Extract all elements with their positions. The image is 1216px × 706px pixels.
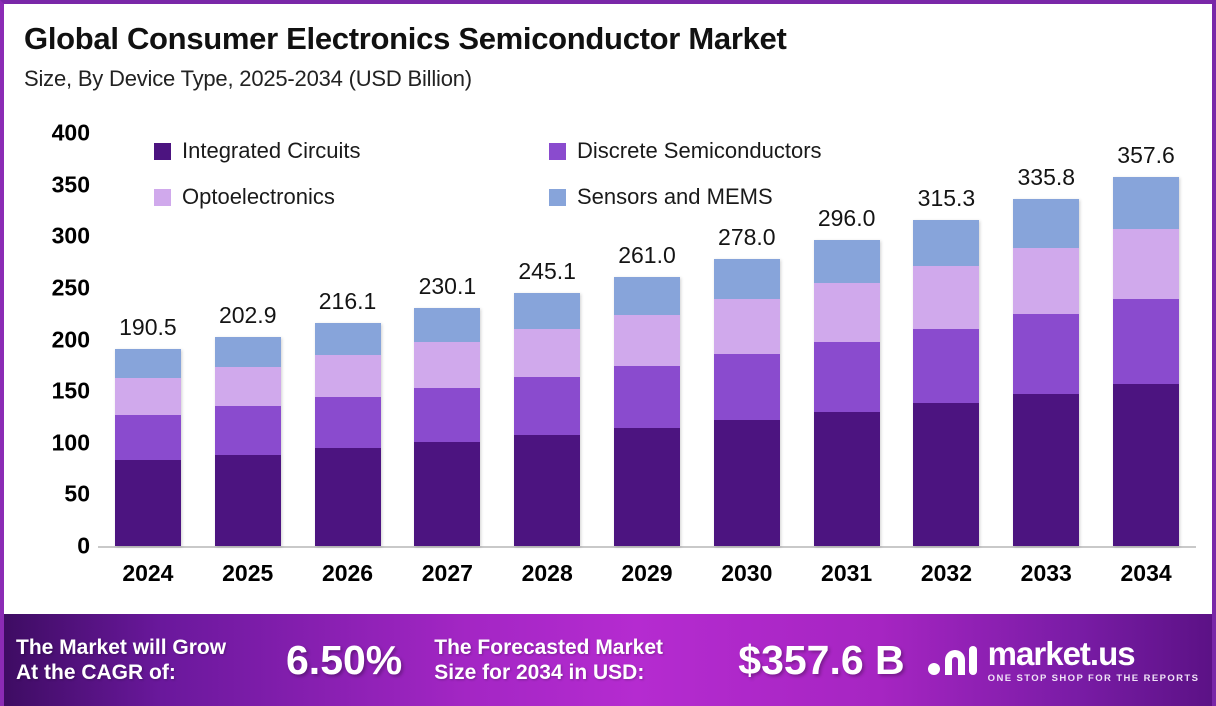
bar-total-label: 278.0	[718, 224, 776, 251]
x-axis-tick-label: 2025	[198, 560, 298, 587]
bar-segment[interactable]	[315, 448, 381, 546]
market-us-logo-text: market.us ONE STOP SHOP FOR THE REPORTS	[988, 637, 1200, 684]
x-axis-labels: 2024202520262027202820292030203120322033…	[98, 560, 1196, 600]
stacked-bar[interactable]	[514, 293, 580, 546]
forecast-size-label-line1: The Forecasted Market	[434, 635, 730, 660]
bar-segment[interactable]	[115, 460, 181, 546]
bar-total-label: 216.1	[319, 288, 377, 315]
stacked-bar[interactable]	[1013, 199, 1079, 546]
bar-segment[interactable]	[315, 323, 381, 355]
bar-segment[interactable]	[514, 329, 580, 377]
y-axis-tick: 400	[52, 120, 90, 147]
market-us-logo[interactable]: market.us ONE STOP SHOP FOR THE REPORTS	[927, 637, 1200, 684]
stacked-bar[interactable]	[814, 240, 880, 546]
plot-area: 400350300250200150100500 190.5202.9216.1…	[4, 4, 1216, 604]
bar-segment[interactable]	[714, 299, 780, 354]
x-axis-tick-label: 2027	[397, 560, 497, 587]
bar-segment[interactable]	[1113, 177, 1179, 229]
stacked-bar[interactable]	[1113, 177, 1179, 546]
bar-segment[interactable]	[514, 293, 580, 329]
bar-total-label: 357.6	[1117, 142, 1175, 169]
forecast-size-label: The Forecasted Market Size for 2034 in U…	[434, 635, 730, 685]
bar-total-label: 261.0	[618, 242, 676, 269]
bar-segment[interactable]	[614, 315, 680, 367]
bar-segment[interactable]	[215, 406, 281, 454]
bar-segment[interactable]	[414, 442, 480, 546]
bar-group[interactable]: 261.0	[597, 134, 697, 546]
x-axis-tick-label: 2034	[1096, 560, 1196, 587]
stacked-bar[interactable]	[115, 349, 181, 546]
bar-group[interactable]: 357.6	[1096, 134, 1196, 546]
bar-segment[interactable]	[215, 367, 281, 407]
bar-total-label: 190.5	[119, 314, 177, 341]
bar-segment[interactable]	[215, 337, 281, 367]
y-axis: 400350300250200150100500	[16, 119, 90, 549]
bar-group[interactable]: 230.1	[397, 134, 497, 546]
bar-segment[interactable]	[514, 435, 580, 546]
bar-segment[interactable]	[514, 377, 580, 435]
bar-segment[interactable]	[913, 329, 979, 404]
bar-segment[interactable]	[814, 240, 880, 283]
bar-total-label: 202.9	[219, 302, 277, 329]
cagr-label: The Market will Grow At the CAGR of:	[16, 635, 284, 685]
bar-segment[interactable]	[1113, 384, 1179, 546]
bar-segment[interactable]	[614, 366, 680, 428]
stacked-bar[interactable]	[414, 308, 480, 546]
bar-segment[interactable]	[814, 283, 880, 341]
y-axis-tick: 150	[52, 378, 90, 405]
bar-segment[interactable]	[913, 266, 979, 328]
bar-segment[interactable]	[115, 415, 181, 460]
cagr-label-line2: At the CAGR of:	[16, 660, 284, 685]
market-us-logo-icon	[927, 638, 979, 683]
bar-segment[interactable]	[315, 355, 381, 398]
bar-segment[interactable]	[714, 354, 780, 420]
y-axis-tick: 50	[64, 481, 90, 508]
x-axis-tick-label: 2029	[597, 560, 697, 587]
bar-series-container: 190.5202.9216.1230.1245.1261.0278.0296.0…	[98, 134, 1196, 546]
y-axis-tick: 300	[52, 223, 90, 250]
y-axis-tick: 200	[52, 326, 90, 353]
cagr-label-line1: The Market will Grow	[16, 635, 284, 660]
bar-segment[interactable]	[913, 403, 979, 546]
bar-segment[interactable]	[714, 420, 780, 546]
bar-group[interactable]: 190.5	[98, 134, 198, 546]
x-axis-tick-label: 2026	[298, 560, 398, 587]
bar-group[interactable]: 335.8	[996, 134, 1096, 546]
y-axis-tick: 0	[77, 533, 90, 560]
stacked-bar[interactable]	[913, 220, 979, 546]
bar-segment[interactable]	[215, 455, 281, 546]
bar-total-label: 230.1	[419, 273, 477, 300]
bar-segment[interactable]	[814, 412, 880, 546]
bar-segment[interactable]	[115, 378, 181, 415]
bar-group[interactable]: 216.1	[298, 134, 398, 546]
bar-group[interactable]: 202.9	[198, 134, 298, 546]
forecast-size-value: $357.6 B	[738, 637, 904, 684]
bar-segment[interactable]	[1013, 199, 1079, 248]
bar-segment[interactable]	[115, 349, 181, 377]
bar-group[interactable]: 296.0	[797, 134, 897, 546]
bar-segment[interactable]	[913, 220, 979, 266]
bar-total-label: 296.0	[818, 205, 876, 232]
bar-segment[interactable]	[1013, 248, 1079, 314]
y-axis-tick: 350	[52, 171, 90, 198]
x-axis-tick-label: 2024	[98, 560, 198, 587]
bar-segment[interactable]	[414, 342, 480, 387]
stacked-bar[interactable]	[714, 259, 780, 546]
bar-segment[interactable]	[814, 342, 880, 412]
bar-segment[interactable]	[1013, 394, 1079, 546]
footer-banner: The Market will Grow At the CAGR of: 6.5…	[4, 614, 1216, 706]
stacked-bar[interactable]	[215, 337, 281, 546]
bar-segment[interactable]	[315, 397, 381, 448]
y-axis-tick: 250	[52, 274, 90, 301]
bar-total-label: 245.1	[518, 258, 576, 285]
bar-segment[interactable]	[1013, 314, 1079, 394]
bar-segment[interactable]	[714, 259, 780, 299]
bar-group[interactable]: 315.3	[897, 134, 997, 546]
stacked-bar[interactable]	[614, 277, 680, 546]
bar-total-label: 315.3	[918, 185, 976, 212]
bar-segment[interactable]	[1113, 229, 1179, 300]
bar-total-label: 335.8	[1017, 164, 1075, 191]
bar-segment[interactable]	[614, 428, 680, 546]
x-axis-tick-label: 2030	[697, 560, 797, 587]
infographic-chart-card: Global Consumer Electronics Semiconducto…	[0, 0, 1216, 706]
stacked-bar[interactable]	[315, 323, 381, 546]
bar-segment[interactable]	[414, 308, 480, 342]
x-axis-tick-label: 2032	[897, 560, 997, 587]
logo-name: market.us	[988, 637, 1200, 670]
bar-segment[interactable]	[1113, 299, 1179, 384]
forecast-size-label-line2: Size for 2034 in USD:	[434, 660, 730, 685]
bar-segment[interactable]	[414, 388, 480, 443]
logo-tagline: ONE STOP SHOP FOR THE REPORTS	[988, 673, 1200, 684]
y-axis-tick: 100	[52, 429, 90, 456]
x-axis-line	[98, 546, 1196, 548]
x-axis-tick-label: 2033	[996, 560, 1096, 587]
bar-group[interactable]: 245.1	[497, 134, 597, 546]
x-axis-tick-label: 2031	[797, 560, 897, 587]
x-axis-tick-label: 2028	[497, 560, 597, 587]
bar-group[interactable]: 278.0	[697, 134, 797, 546]
bar-segment[interactable]	[614, 277, 680, 315]
cagr-value: 6.50%	[286, 637, 402, 684]
